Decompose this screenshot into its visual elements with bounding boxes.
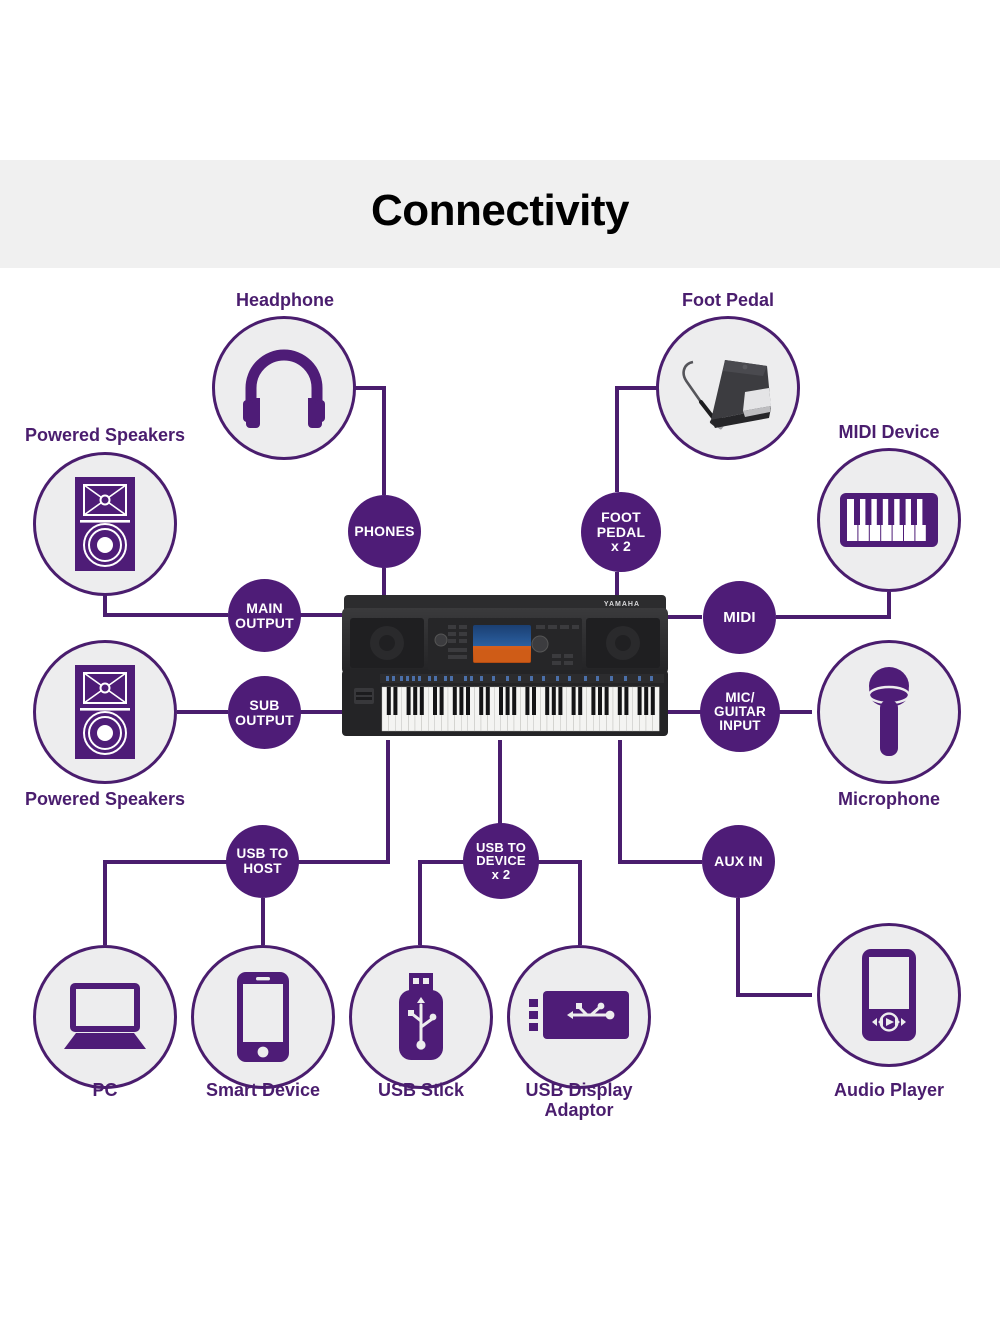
device-label-usb-display-adaptor: USB Display Adaptor <box>479 1080 679 1120</box>
usb-adaptor-icon <box>527 985 631 1049</box>
microphone-icon <box>860 664 918 760</box>
device-powered-speakers-top[interactable] <box>33 452 177 596</box>
device-audio-player[interactable] <box>817 923 961 1067</box>
device-label-midi-device: MIDI Device <box>789 422 989 442</box>
port-phones[interactable]: PHONES <box>348 495 421 568</box>
midi-keyboard-icon <box>839 492 939 548</box>
port-aux-in[interactable]: AUX IN <box>702 825 775 898</box>
port-usb-to-host[interactable]: USB TOHOST <box>226 825 299 898</box>
yamaha-keyboard-image: YAMAHA <box>340 592 670 740</box>
port-sub-output[interactable]: SUBOUTPUT <box>228 676 301 749</box>
device-headphone[interactable] <box>212 316 356 460</box>
speaker-icon <box>74 476 136 572</box>
device-midi-device[interactable] <box>817 448 961 592</box>
device-label-foot-pedal: Foot Pedal <box>628 290 828 310</box>
device-label-headphone: Headphone <box>185 290 385 310</box>
port-usb-to-device[interactable]: USB TODEVICEx 2 <box>463 823 539 899</box>
device-powered-speakers-bottom[interactable] <box>33 640 177 784</box>
device-foot-pedal[interactable] <box>656 316 800 460</box>
smartphone-icon <box>236 971 290 1063</box>
port-midi[interactable]: MIDI <box>703 581 776 654</box>
device-usb-display-adaptor[interactable] <box>507 945 651 1089</box>
port-foot-pedal[interactable]: FOOTPEDALx 2 <box>581 492 661 572</box>
device-label-audio-player: Audio Player <box>789 1080 989 1100</box>
speaker-icon <box>74 664 136 760</box>
device-smart-device[interactable] <box>191 945 335 1089</box>
device-label-powered-speakers-bottom: Powered Speakers <box>5 789 205 809</box>
port-mic-guitar-input[interactable]: MIC/GUITARINPUT <box>700 672 780 752</box>
port-main-output[interactable]: MAINOUTPUT <box>228 579 301 652</box>
laptop-icon <box>59 981 151 1053</box>
device-label-powered-speakers-top: Powered Speakers <box>5 425 205 445</box>
device-usb-stick[interactable] <box>349 945 493 1089</box>
foot-pedal-icon <box>671 340 785 436</box>
device-label-microphone: Microphone <box>789 789 989 809</box>
connectivity-diagram: Connectivity <box>0 0 1000 1320</box>
headphone-icon <box>241 348 327 428</box>
usb-stick-icon <box>393 971 449 1063</box>
svg-text:YAMAHA: YAMAHA <box>604 601 640 608</box>
audio-player-icon <box>861 948 917 1042</box>
device-pc[interactable] <box>33 945 177 1089</box>
device-microphone[interactable] <box>817 640 961 784</box>
